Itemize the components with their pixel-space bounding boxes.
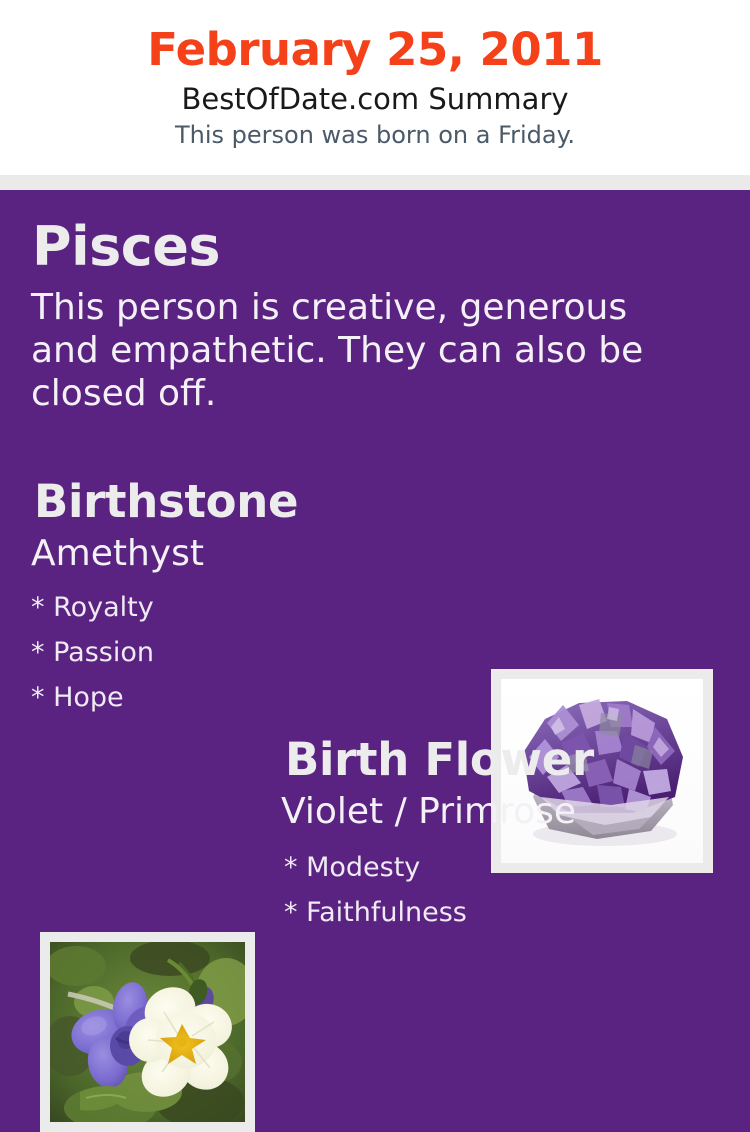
- birthstone-heading: Birthstone: [34, 477, 298, 527]
- birth-flower-image-frame: [40, 932, 255, 1132]
- page-title: February 25, 2011: [0, 22, 750, 78]
- birthstone-name: Amethyst: [31, 533, 204, 575]
- birth-flower-trait-list: * Modesty * Faithfulness: [284, 845, 684, 935]
- birth-flower-name: Violet / Primrose: [281, 791, 576, 833]
- zodiac-sign-title: Pisces: [32, 217, 220, 277]
- header: February 25, 2011 BestOfDate.com Summary…: [0, 0, 750, 175]
- list-item: * Modesty: [284, 845, 684, 890]
- list-item: * Hope: [31, 675, 431, 720]
- list-item: * Passion: [31, 630, 431, 675]
- zodiac-description: This person is creative, generous and em…: [31, 286, 703, 415]
- header-divider: [0, 175, 750, 190]
- birthstone-trait-list: * Royalty * Passion * Hope: [31, 585, 431, 720]
- day-of-week-note: This person was born on a Friday.: [0, 119, 750, 151]
- violet-primrose-photo: [50, 942, 245, 1122]
- list-item: * Faithfulness: [284, 890, 684, 935]
- site-subtitle: BestOfDate.com Summary: [0, 80, 750, 118]
- birth-flower-heading: Birth Flower: [285, 735, 594, 785]
- summary-card: February 25, 2011 BestOfDate.com Summary…: [0, 0, 750, 1000]
- content-panel: Pisces This person is creative, generous…: [0, 190, 750, 1000]
- list-item: * Royalty: [31, 585, 431, 630]
